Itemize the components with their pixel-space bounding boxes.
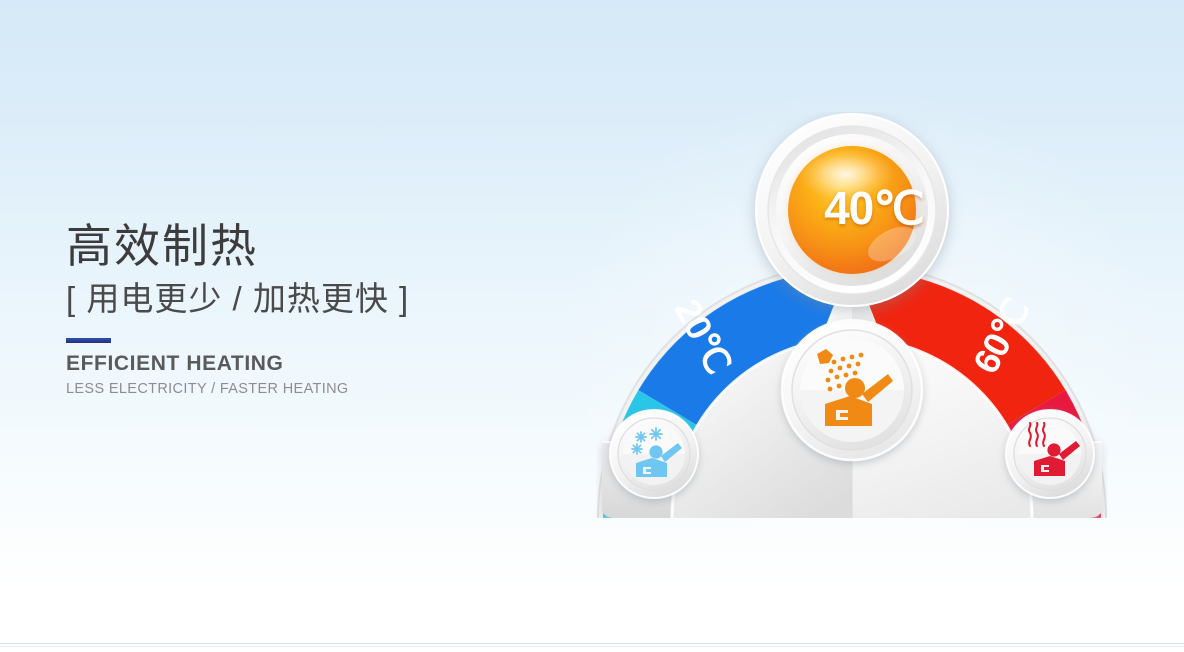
page-subtitle: [ 用电更少 / 加热更快 ] bbox=[66, 278, 536, 321]
accent-divider bbox=[66, 338, 111, 343]
badge-value-wrap: 40℃ bbox=[776, 112, 972, 308]
footer-divider-soft bbox=[0, 646, 1184, 647]
english-subtitle: LESS ELECTRICITY / FASTER HEATING bbox=[66, 381, 536, 397]
temperature-gauge: 20℃ 60℃ 40℃ bbox=[596, 112, 1108, 518]
promo-banner: 高效制热 [ 用电更少 / 加热更快 ] EFFICIENT HEATING L… bbox=[0, 0, 1184, 652]
english-title: EFFICIENT HEATING bbox=[66, 352, 536, 376]
copy-block: 高效制热 [ 用电更少 / 加热更快 ] EFFICIENT HEATING L… bbox=[66, 218, 536, 397]
page-title: 高效制热 bbox=[66, 218, 536, 274]
footer-divider bbox=[0, 643, 1184, 644]
badge-value: 40℃ bbox=[776, 112, 972, 308]
